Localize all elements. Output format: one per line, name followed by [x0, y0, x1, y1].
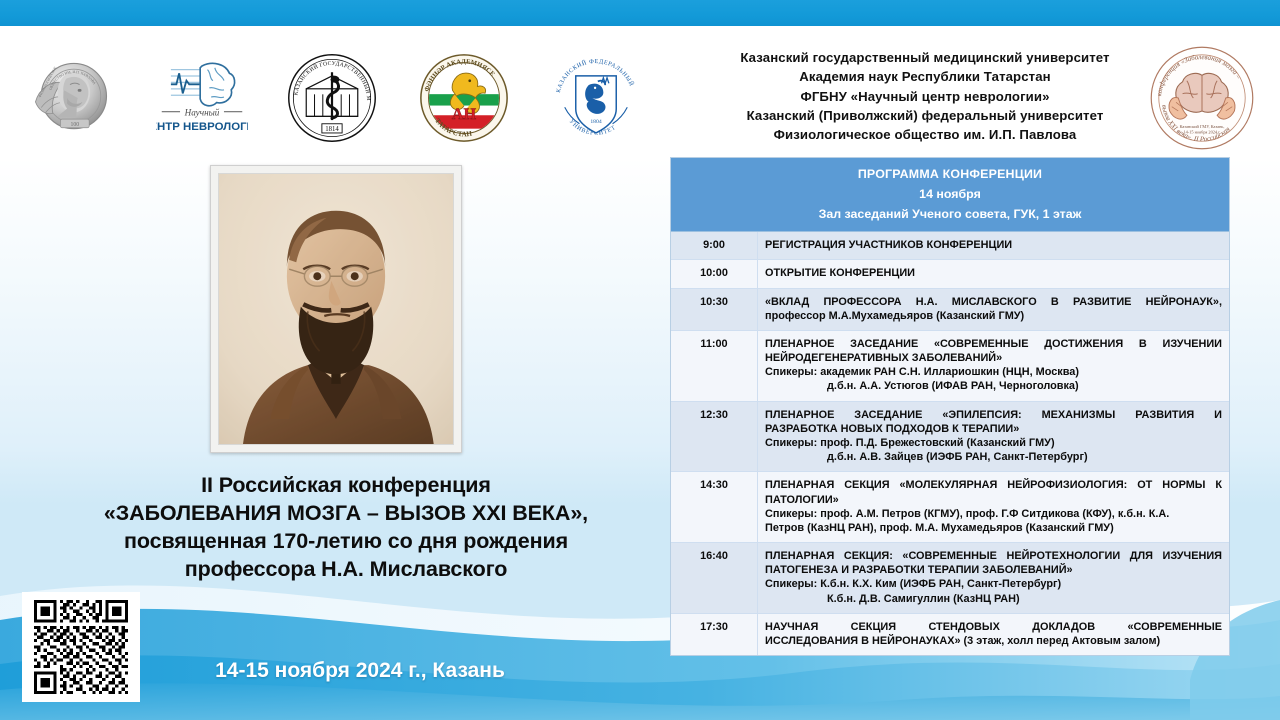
row-speaker-line: Спикеры: проф. А.М. Петров (КГМУ), проф.…: [765, 507, 1222, 521]
row-speaker-line: д.б.н. А.А. Устюгов (ИФАВ РАН, Черноголо…: [765, 379, 1222, 393]
row-description: «ВКЛАД ПРОФЕССОРА Н.А. МИСЛАВСКОГО В РАЗ…: [758, 288, 1230, 330]
organizer-line: Казанский (Приволжский) федеральный унив…: [700, 106, 1150, 125]
conference-emblem-sub2: 14-15 ноября 2024 г.: [1184, 130, 1221, 135]
row-description: РЕГИСТРАЦИЯ УЧАСТНИКОВ КОНФЕРЕНЦИИ: [758, 232, 1230, 260]
row-speaker-line: Спикеры: К.б.н. К.Х. Ким (ИЭФБ РАН, Санк…: [765, 577, 1222, 591]
organizer-line: Физиологическое общество им. И.П. Павлов…: [700, 125, 1150, 144]
row-speaker-line: Спикеры: проф. П.Д. Брежестовский (Казан…: [765, 436, 1222, 450]
conference-program-table: ПРОГРАММА КОНФЕРЕНЦИИ 14 ноября Зал засе…: [670, 157, 1230, 656]
row-description: ПЛЕНАРНАЯ СЕКЦИЯ «МОЛЕКУЛЯРНАЯ НЕЙРОФИЗИ…: [758, 472, 1230, 543]
neurology-center-logo-sub: Научный: [184, 107, 220, 117]
row-speaker-line: Спикеры: академик РАН С.Н. Иллариошкин (…: [765, 365, 1222, 379]
row-title-line: ОТКРЫТИЕ КОНФЕРЕНЦИИ: [765, 266, 1222, 280]
organizer-line: ФГБНУ «Научный центр неврологии»: [700, 87, 1150, 106]
organizers-list: Казанский государственный медицинский ун…: [700, 48, 1150, 144]
row-speaker-line: д.б.н. А.В. Зайцев (ИЭФБ РАН, Санкт-Пете…: [765, 450, 1222, 464]
neurology-center-logo-label: ЦЕНТР НЕВРОЛОГИИ: [156, 121, 248, 133]
row-title-line: ПЛЕНАРНАЯ СЕКЦИЯ «МОЛЕКУЛЯРНАЯ НЕЙРОФИЗИ…: [765, 478, 1222, 492]
svg-text:100: 100: [70, 122, 79, 128]
row-speaker-line: Петров (КазНЦ РАН), проф. М.А. Мухамедья…: [765, 521, 1222, 535]
row-time: 10:00: [671, 260, 758, 288]
row-time: 17:30: [671, 613, 758, 655]
kazan-medical-university-logo: КАЗАНСКИЙ ГОСУДАРСТВЕННЫЙ МЕДИЦИНСКИЙ УН…: [286, 52, 378, 144]
conference-date: 14-15 ноября 2024 г., Казань: [150, 659, 570, 683]
row-title-line: НЕЙРОДЕГЕНЕРАТИВНЫХ ЗАБОЛЕВАНИЙ»: [765, 351, 1222, 365]
row-description: ПЛЕНАРНОЕ ЗАСЕДАНИЕ «СОВРЕМЕННЫЕ ДОСТИЖЕ…: [758, 330, 1230, 401]
table-row: 16:40ПЛЕНАРНАЯ СЕКЦИЯ: «СОВРЕМЕННЫЕ НЕЙР…: [671, 543, 1229, 614]
program-venue: Зал заседаний Ученого совета, ГУК, 1 эта…: [675, 204, 1225, 224]
row-time: 14:30: [671, 472, 758, 543]
program-rows: 9:00РЕГИСТРАЦИЯ УЧАСТНИКОВ КОНФЕРЕНЦИИ10…: [671, 232, 1229, 655]
organizer-line: Академия наук Республики Татарстан: [700, 67, 1150, 86]
organizer-line: Казанский государственный медицинский ун…: [700, 48, 1150, 67]
table-row: 10:30«ВКЛАД ПРОФЕССОРА Н.А. МИСЛАВСКОГО …: [671, 288, 1229, 330]
title-line-1: II Российская конференция: [30, 472, 662, 500]
row-title-line: ИССЛЕДОВАНИЯ В НЕЙРОНАУКАХ» (3 этаж, хол…: [765, 634, 1222, 648]
row-title-line: ПЛЕНАРНОЕ ЗАСЕДАНИЕ «ЭПИЛЕПСИЯ: МЕХАНИЗМ…: [765, 408, 1222, 422]
table-row: 17:30НАУЧНАЯ СЕКЦИЯ СТЕНДОВЫХ ДОКЛАДОВ «…: [671, 613, 1229, 655]
qr-code[interactable]: [22, 592, 140, 702]
page-title: II Российская конференция «ЗАБОЛЕВАНИЯ М…: [30, 472, 662, 584]
tatarstan-academy-of-sciences-logo: АН ФӘННӘР АКАДЕМИЯСЕ ТАТАРСТАН: [416, 52, 512, 144]
conference-emblem-logo: конференция «Заболевания мозга – вызов X…: [1148, 44, 1256, 152]
pavlov-medal-logo: 100 ФИЗИОЛОГИЧЕСКОЕ ОБЩЕСТВО ИМ. И.П. ПА…: [22, 50, 118, 146]
table-row: 11:00ПЛЕНАРНОЕ ЗАСЕДАНИЕ «СОВРЕМЕННЫЕ ДО…: [671, 330, 1229, 401]
neurology-center-logo: Научный ЦЕНТР НЕВРОЛОГИИ: [156, 55, 248, 141]
program-title: ПРОГРАММА КОНФЕРЕНЦИИ: [675, 164, 1225, 184]
row-title-line: РАЗРАБОТКА НОВЫХ ПОДХОДОВ К ТЕРАПИИ»: [765, 422, 1222, 436]
row-time: 16:40: [671, 543, 758, 614]
row-title-line: ПАТОЛОГИИ»: [765, 493, 1222, 507]
kfu-year-label: 1804: [590, 119, 602, 125]
row-speaker-line: К.б.н. Д.В. Самигуллин (КазНЦ РАН): [765, 592, 1222, 606]
title-line-4: профессора Н.А. Миславского: [30, 556, 662, 584]
row-description: ПЛЕНАРНОЕ ЗАСЕДАНИЕ «ЭПИЛЕПСИЯ: МЕХАНИЗМ…: [758, 401, 1230, 472]
row-title-line: профессор М.А.Мухамедьяров (Казанский ГМ…: [765, 309, 1222, 323]
row-time: 12:30: [671, 401, 758, 472]
row-title-line: «ВКЛАД ПРОФЕССОРА Н.А. МИСЛАВСКОГО В РАЗ…: [765, 295, 1222, 309]
row-time: 11:00: [671, 330, 758, 401]
row-description: ОТКРЫТИЕ КОНФЕРЕНЦИИ: [758, 260, 1230, 288]
mislavsky-portrait: [218, 173, 454, 445]
row-title-line: ПАТОГЕНЕЗА И РАЗРАБОТКИ ТЕРАПИИ ЗАБОЛЕВА…: [765, 563, 1222, 577]
row-time: 9:00: [671, 232, 758, 260]
row-title-line: РЕГИСТРАЦИЯ УЧАСТНИКОВ КОНФЕРЕНЦИИ: [765, 238, 1222, 252]
conference-poster: 100 ФИЗИОЛОГИЧЕСКОЕ ОБЩЕСТВО ИМ. И.П. ПА…: [0, 0, 1280, 720]
row-title-line: ПЛЕНАРНОЕ ЗАСЕДАНИЕ «СОВРЕМЕННЫЕ ДОСТИЖЕ…: [765, 337, 1222, 351]
kgmu-year-label: 1814: [325, 126, 339, 133]
program-date: 14 ноября: [675, 184, 1225, 204]
row-title-line: ПЛЕНАРНАЯ СЕКЦИЯ: «СОВРЕМЕННЫЕ НЕЙРОТЕХН…: [765, 549, 1222, 563]
mislavsky-portrait-frame: [210, 165, 462, 453]
row-title-line: НАУЧНАЯ СЕКЦИЯ СТЕНДОВЫХ ДОКЛАДОВ «СОВРЕ…: [765, 620, 1222, 634]
title-line-3: посвященная 170-летию со дня рождения: [30, 528, 662, 556]
table-row: 12:30ПЛЕНАРНОЕ ЗАСЕДАНИЕ «ЭПИЛЕПСИЯ: МЕХ…: [671, 401, 1229, 472]
title-line-2: «ЗАБОЛЕВАНИЯ МОЗГА – ВЫЗОВ XXI ВЕКА»,: [30, 500, 662, 528]
top-accent-bar: [0, 0, 1280, 26]
program-table-header: ПРОГРАММА КОНФЕРЕНЦИИ 14 ноября Зал засе…: [671, 158, 1229, 232]
table-row: 14:30ПЛЕНАРНАЯ СЕКЦИЯ «МОЛЕКУЛЯРНАЯ НЕЙР…: [671, 472, 1229, 543]
an-monogram-label: АН: [452, 104, 477, 123]
row-description: ПЛЕНАРНАЯ СЕКЦИЯ: «СОВРЕМЕННЫЕ НЕЙРОТЕХН…: [758, 543, 1230, 614]
organizer-logos: 100 ФИЗИОЛОГИЧЕСКОЕ ОБЩЕСТВО ИМ. И.П. ПА…: [22, 44, 642, 152]
kazan-federal-university-logo: КАЗАНСКИЙ ФЕДЕРАЛЬНЫЙ УНИВЕРСИТЕТ 1804: [550, 52, 642, 144]
table-row: 9:00РЕГИСТРАЦИЯ УЧАСТНИКОВ КОНФЕРЕНЦИИ: [671, 232, 1229, 260]
row-time: 10:30: [671, 288, 758, 330]
row-description: НАУЧНАЯ СЕКЦИЯ СТЕНДОВЫХ ДОКЛАДОВ «СОВРЕ…: [758, 613, 1230, 655]
table-row: 10:00ОТКРЫТИЕ КОНФЕРЕНЦИИ: [671, 260, 1229, 288]
